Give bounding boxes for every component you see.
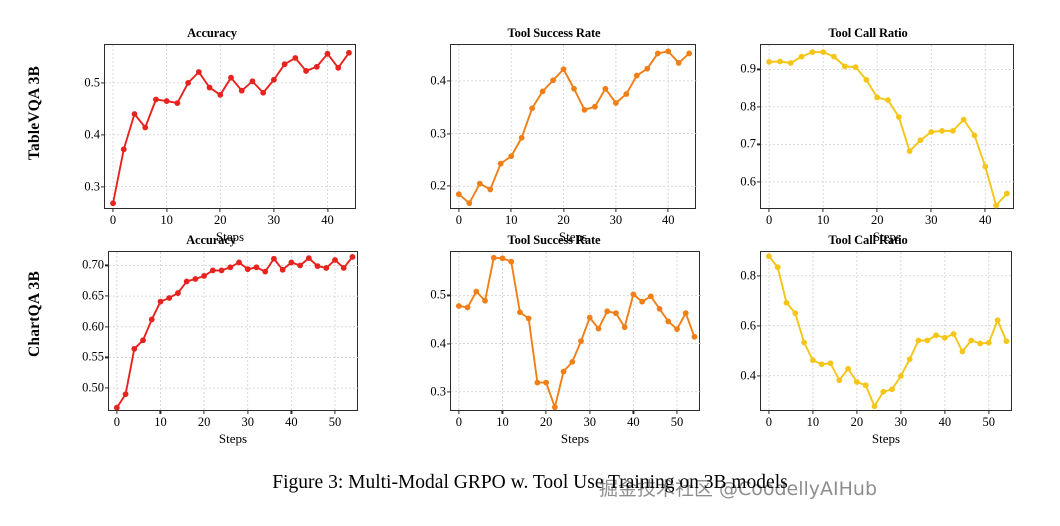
- data-point: [863, 382, 869, 388]
- data-point: [933, 332, 939, 338]
- data-point: [217, 92, 223, 98]
- y-tick-mark: [447, 295, 451, 296]
- x-tick-label: 20: [871, 213, 884, 228]
- panel-title: Accuracy: [56, 233, 366, 248]
- data-point: [907, 356, 913, 362]
- data-point: [350, 254, 356, 260]
- data-point: [303, 68, 309, 74]
- y-tick-label: 0.60: [82, 319, 104, 334]
- x-tick-mark: [633, 410, 634, 414]
- data-point: [961, 117, 967, 123]
- y-tick-mark: [447, 391, 451, 392]
- data-point: [164, 98, 170, 104]
- chart-row-tablevqa: TableVQA 3B Accuracy 0.30.40.5010203040S…: [0, 22, 1060, 232]
- data-point: [196, 69, 202, 75]
- data-point: [292, 55, 298, 61]
- data-point: [260, 90, 266, 96]
- x-tick-mark: [273, 208, 274, 212]
- data-point: [810, 357, 816, 363]
- y-tick-mark: [105, 326, 109, 327]
- x-tick-mark: [220, 208, 221, 212]
- y-tick-mark: [105, 265, 109, 266]
- grid-lines: [761, 252, 1013, 412]
- data-point: [473, 289, 479, 295]
- data-point: [880, 389, 886, 395]
- figure-caption: Figure 3: Multi-Modal GRPO w. Tool Use T…: [0, 472, 1060, 494]
- data-point: [140, 337, 146, 343]
- panel-title: Tool Call Ratio: [718, 233, 1018, 248]
- data-point: [332, 257, 338, 263]
- data-point: [508, 259, 514, 265]
- y-tick-mark: [105, 357, 109, 358]
- data-point: [192, 276, 198, 282]
- plot-area[interactable]: 0.60.70.80.9010203040Steps: [760, 44, 1014, 209]
- x-tick-label: 10: [807, 415, 820, 430]
- data-point: [820, 49, 826, 55]
- data-point: [153, 97, 159, 103]
- row-label-chartqa: ChartQA 3B: [26, 209, 48, 419]
- y-tick-label: 0.50: [82, 381, 104, 396]
- y-tick-label: 0.4: [740, 368, 756, 383]
- y-tick-label: 0.8: [740, 99, 756, 114]
- data-point: [552, 404, 558, 410]
- data-point: [828, 360, 834, 366]
- data-point: [282, 61, 288, 67]
- y-tick-mark: [757, 181, 761, 182]
- data-point: [508, 153, 514, 159]
- data-point: [692, 334, 698, 340]
- x-tick-label: 10: [817, 213, 830, 228]
- x-tick-mark: [166, 208, 167, 212]
- data-point: [228, 75, 234, 81]
- data-point: [836, 377, 842, 383]
- x-tick-mark: [112, 208, 113, 212]
- data-point: [239, 88, 245, 94]
- x-tick-mark: [546, 410, 547, 414]
- panel-chartqa-tool-call-ratio: Tool Call Ratio 0.40.60.801020304050Step…: [718, 229, 1018, 439]
- y-tick-label: 0.5: [84, 75, 100, 90]
- data-point: [665, 319, 671, 325]
- data-point: [674, 326, 680, 332]
- y-tick-mark: [105, 296, 109, 297]
- data-point: [262, 269, 268, 275]
- data-point: [271, 77, 277, 83]
- data-point: [968, 338, 974, 344]
- data-point: [801, 340, 807, 346]
- data-point: [500, 255, 506, 261]
- y-tick-mark: [757, 69, 761, 70]
- data-point: [254, 264, 260, 270]
- data-point: [517, 309, 523, 315]
- data-point: [592, 104, 598, 110]
- x-tick-mark: [823, 208, 824, 212]
- data-point: [775, 264, 781, 270]
- x-tick-label: 40: [662, 213, 675, 228]
- x-tick-label: 30: [583, 415, 596, 430]
- data-point: [526, 316, 532, 322]
- x-tick-label: 20: [214, 213, 227, 228]
- grid-lines: [451, 252, 701, 412]
- y-tick-label: 0.4: [430, 73, 446, 88]
- x-tick-label: 30: [925, 213, 938, 228]
- plot-area[interactable]: 0.30.40.501020304050Steps: [450, 251, 700, 411]
- data-point: [604, 308, 610, 314]
- x-tick-mark: [615, 208, 616, 212]
- data-point: [872, 403, 878, 409]
- plot-area[interactable]: 0.20.30.4010203040Steps: [450, 44, 696, 209]
- y-tick-mark: [447, 343, 451, 344]
- data-point: [142, 125, 148, 131]
- x-tick-label: 40: [321, 213, 334, 228]
- data-point: [845, 366, 851, 372]
- data-point: [918, 137, 924, 143]
- x-tick-mark: [877, 208, 878, 212]
- data-point: [245, 266, 251, 272]
- panel-title: Tool Success Rate: [408, 26, 700, 41]
- data-point: [916, 338, 922, 344]
- data-point: [185, 80, 191, 86]
- data-point: [951, 331, 957, 337]
- chart-svg: [109, 252, 359, 412]
- y-tick-label: 0.8: [740, 268, 756, 283]
- data-point: [792, 310, 798, 316]
- x-tick-mark: [856, 410, 857, 414]
- data-point: [907, 148, 913, 154]
- data-point: [634, 73, 640, 79]
- data-point: [939, 128, 945, 134]
- y-tick-label: 0.9: [740, 62, 756, 77]
- x-tick-label: 30: [268, 213, 281, 228]
- data-point: [498, 161, 504, 167]
- y-tick-label: 0.5: [430, 288, 446, 303]
- x-tick-label: 20: [198, 415, 211, 430]
- data-point: [288, 260, 294, 266]
- x-tick-mark: [511, 208, 512, 212]
- data-point: [346, 50, 352, 56]
- data-point: [960, 349, 966, 355]
- data-point: [131, 346, 137, 352]
- data-point: [236, 260, 242, 266]
- x-tick-label: 0: [766, 415, 772, 430]
- x-tick-label: 0: [766, 213, 772, 228]
- chart-svg: [451, 252, 701, 412]
- x-tick-label: 10: [160, 213, 173, 228]
- y-tick-label: 0.7: [740, 137, 756, 152]
- data-point: [889, 386, 895, 392]
- data-point: [561, 369, 567, 375]
- data-point: [158, 299, 164, 305]
- panel-chartqa-accuracy: Accuracy 0.500.550.600.650.7001020304050…: [56, 229, 366, 439]
- data-line: [769, 52, 1007, 205]
- y-tick-mark: [447, 133, 451, 134]
- y-tick-label: 0.4: [430, 336, 446, 351]
- data-point: [993, 203, 999, 209]
- data-point: [297, 263, 303, 269]
- x-tick-mark: [931, 208, 932, 212]
- data-point: [863, 77, 869, 83]
- x-tick-mark: [676, 410, 677, 414]
- y-tick-mark: [757, 144, 761, 145]
- plot-area[interactable]: 0.500.550.600.650.7001020304050Steps: [108, 251, 358, 411]
- data-point: [924, 338, 930, 344]
- data-point: [950, 128, 956, 134]
- x-tick-label: 40: [285, 415, 298, 430]
- data-point: [587, 315, 593, 321]
- chart-svg: [105, 45, 357, 210]
- x-axis-label: Steps: [451, 431, 699, 447]
- panel-tablevqa-tool-success-rate: Tool Success Rate 0.20.30.4010203040Step…: [408, 22, 700, 232]
- x-tick-mark: [160, 410, 161, 414]
- y-tick-mark: [757, 275, 761, 276]
- data-point: [210, 267, 216, 273]
- x-tick-mark: [768, 410, 769, 414]
- data-point: [766, 59, 772, 65]
- data-point: [819, 361, 825, 367]
- x-tick-label: 40: [979, 213, 992, 228]
- data-point: [603, 86, 609, 92]
- y-tick-mark: [447, 186, 451, 187]
- x-tick-mark: [985, 208, 986, 212]
- data-point: [465, 305, 471, 311]
- x-tick-mark: [769, 208, 770, 212]
- x-tick-label: 50: [671, 415, 684, 430]
- data-point: [842, 63, 848, 69]
- data-point: [630, 292, 636, 298]
- data-point: [201, 273, 207, 279]
- data-point: [166, 295, 172, 301]
- data-point: [250, 78, 256, 84]
- data-point: [596, 326, 602, 332]
- data-point: [972, 132, 978, 138]
- x-tick-label: 50: [329, 415, 342, 430]
- data-point: [325, 51, 331, 57]
- y-tick-label: 0.4: [84, 127, 100, 142]
- data-point: [644, 66, 650, 72]
- x-tick-mark: [334, 410, 335, 414]
- data-point: [529, 105, 535, 111]
- data-point: [578, 338, 584, 344]
- panel-title: Accuracy: [62, 26, 362, 41]
- x-tick-label: 30: [610, 213, 623, 228]
- data-point: [314, 64, 320, 70]
- data-point: [582, 107, 588, 113]
- x-tick-mark: [116, 410, 117, 414]
- data-point: [534, 380, 540, 386]
- data-point: [623, 91, 629, 97]
- x-axis-label: Steps: [109, 431, 357, 447]
- data-point: [335, 65, 341, 71]
- data-point: [466, 200, 472, 206]
- y-tick-label: 0.6: [740, 318, 756, 333]
- data-point: [896, 114, 902, 120]
- x-tick-mark: [291, 410, 292, 414]
- data-point: [986, 340, 992, 346]
- chart-svg: [451, 45, 697, 210]
- data-point: [777, 59, 783, 65]
- x-tick-mark: [589, 410, 590, 414]
- y-tick-label: 0.6: [740, 174, 756, 189]
- data-point: [799, 54, 805, 60]
- data-point: [271, 256, 277, 262]
- x-tick-label: 40: [627, 415, 640, 430]
- y-tick-mark: [101, 82, 105, 83]
- data-point: [613, 100, 619, 106]
- data-point: [982, 164, 988, 170]
- x-tick-mark: [327, 208, 328, 212]
- data-point: [184, 279, 190, 285]
- y-tick-label: 0.65: [82, 289, 104, 304]
- x-tick-label: 40: [939, 415, 952, 430]
- data-point: [227, 264, 233, 270]
- x-tick-mark: [458, 410, 459, 414]
- data-point: [977, 341, 983, 347]
- data-point: [540, 88, 546, 94]
- y-tick-mark: [757, 375, 761, 376]
- x-tick-label: 30: [895, 415, 908, 430]
- y-tick-mark: [105, 387, 109, 388]
- x-tick-label: 10: [154, 415, 167, 430]
- data-line: [117, 257, 353, 408]
- y-tick-mark: [757, 325, 761, 326]
- data-point: [456, 303, 462, 309]
- data-point: [686, 51, 692, 57]
- data-point: [280, 267, 286, 273]
- y-tick-label: 0.3: [430, 126, 446, 141]
- data-point: [655, 51, 661, 57]
- data-point: [207, 85, 213, 91]
- x-tick-mark: [204, 410, 205, 414]
- x-axis-label: Steps: [761, 431, 1011, 447]
- x-tick-mark: [988, 410, 989, 414]
- data-point: [315, 263, 321, 269]
- chart-svg: [761, 45, 1015, 210]
- data-point: [1004, 338, 1010, 344]
- data-point: [519, 135, 525, 141]
- data-point: [110, 200, 116, 206]
- row-label-tablevqa: TableVQA 3B: [26, 8, 48, 218]
- data-point: [569, 359, 575, 365]
- y-tick-label: 0.3: [430, 384, 446, 399]
- y-tick-mark: [757, 106, 761, 107]
- x-tick-label: 0: [114, 415, 120, 430]
- data-point: [898, 373, 904, 379]
- x-tick-label: 20: [540, 415, 553, 430]
- y-tick-label: 0.70: [82, 258, 104, 273]
- panel-chartqa-tool-success-rate: Tool Success Rate 0.30.40.501020304050St…: [408, 229, 700, 439]
- plot-area[interactable]: 0.30.40.5010203040Steps: [104, 44, 356, 209]
- y-tick-mark: [101, 134, 105, 135]
- figure-3: TableVQA 3B Accuracy 0.30.40.5010203040S…: [0, 0, 1060, 526]
- grid-lines: [451, 45, 697, 210]
- data-line: [459, 51, 689, 203]
- data-line: [769, 256, 1006, 406]
- y-tick-label: 0.2: [430, 179, 446, 194]
- data-point: [482, 298, 488, 304]
- data-point: [487, 187, 493, 193]
- x-tick-mark: [247, 410, 248, 414]
- data-line: [459, 258, 695, 407]
- data-point: [665, 48, 671, 54]
- data-point: [571, 86, 577, 92]
- x-tick-mark: [944, 410, 945, 414]
- data-point: [175, 290, 181, 296]
- x-tick-label: 0: [456, 213, 462, 228]
- y-tick-mark: [447, 80, 451, 81]
- x-tick-mark: [668, 208, 669, 212]
- panel-tablevqa-accuracy: Accuracy 0.30.40.5010203040Steps: [62, 22, 362, 232]
- x-tick-label: 20: [851, 415, 864, 430]
- data-point: [942, 335, 948, 341]
- data-point: [550, 77, 556, 83]
- data-point: [854, 379, 860, 385]
- data-point: [613, 310, 619, 316]
- y-tick-label: 0.3: [84, 179, 100, 194]
- x-tick-label: 30: [241, 415, 254, 430]
- data-point: [491, 255, 497, 261]
- data-point: [219, 267, 225, 273]
- data-point: [1004, 191, 1010, 197]
- data-point: [123, 391, 129, 397]
- x-tick-mark: [563, 208, 564, 212]
- data-point: [543, 380, 549, 386]
- data-point: [853, 64, 859, 70]
- plot-area[interactable]: 0.40.60.801020304050Steps: [760, 251, 1012, 411]
- x-tick-label: 0: [456, 415, 462, 430]
- x-tick-mark: [502, 410, 503, 414]
- data-point: [683, 310, 689, 316]
- data-point: [648, 293, 654, 299]
- panel-title: Tool Call Ratio: [718, 26, 1018, 41]
- x-tick-label: 10: [505, 213, 518, 228]
- x-tick-mark: [900, 410, 901, 414]
- x-tick-mark: [812, 410, 813, 414]
- data-point: [341, 265, 347, 271]
- panel-title: Tool Success Rate: [408, 233, 700, 248]
- data-point: [639, 299, 645, 305]
- x-tick-label: 20: [557, 213, 570, 228]
- data-point: [885, 97, 891, 103]
- data-point: [766, 253, 772, 259]
- data-point: [784, 300, 790, 306]
- data-point: [149, 317, 155, 323]
- x-tick-label: 10: [496, 415, 509, 430]
- data-point: [456, 191, 462, 197]
- data-point: [874, 95, 880, 101]
- data-point: [928, 129, 934, 135]
- data-point: [831, 54, 837, 60]
- data-point: [788, 60, 794, 66]
- data-point: [676, 60, 682, 66]
- data-point: [622, 324, 628, 330]
- data-point: [657, 306, 663, 312]
- data-point: [121, 146, 127, 152]
- y-tick-mark: [101, 186, 105, 187]
- data-point: [323, 265, 329, 271]
- x-tick-label: 0: [110, 213, 116, 228]
- panel-tablevqa-tool-call-ratio: Tool Call Ratio 0.60.70.80.9010203040Ste…: [718, 22, 1018, 232]
- grid-lines: [761, 45, 1015, 210]
- chart-svg: [761, 252, 1013, 412]
- data-point: [561, 66, 567, 72]
- chart-row-chartqa: ChartQA 3B Accuracy 0.500.550.600.650.70…: [0, 229, 1060, 439]
- data-point: [174, 100, 180, 106]
- data-point: [809, 49, 815, 55]
- data-point: [132, 111, 138, 117]
- data-point: [995, 317, 1001, 323]
- data-point: [477, 181, 483, 187]
- x-tick-label: 50: [983, 415, 996, 430]
- x-tick-mark: [458, 208, 459, 212]
